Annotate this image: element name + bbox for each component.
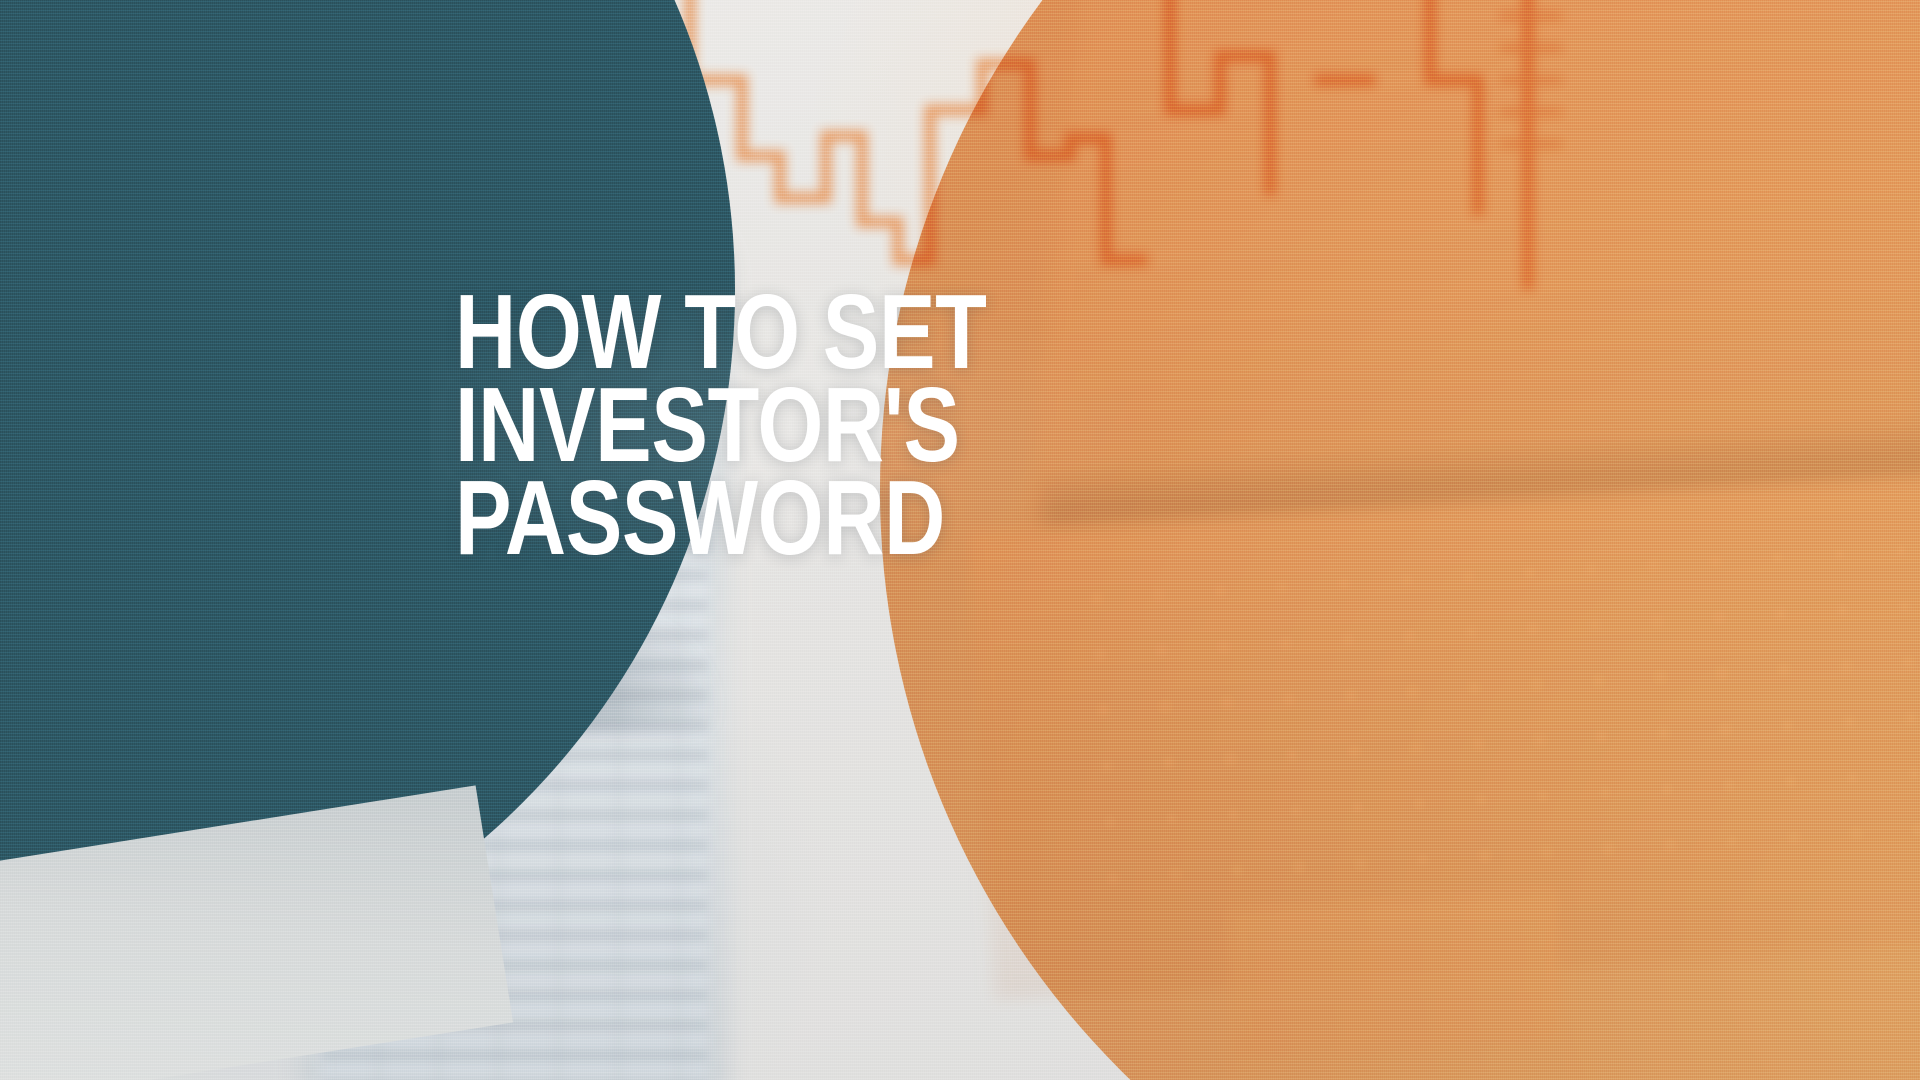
page-title: HOW TO SET INVESTOR'S PASSWORD (455, 286, 1215, 564)
banner-canvas: HOW TO SET INVESTOR'S PASSWORD (0, 0, 1920, 1080)
bottom-right-sliver (1450, 750, 1920, 1080)
title-line-3: PASSWORD (455, 472, 1063, 565)
